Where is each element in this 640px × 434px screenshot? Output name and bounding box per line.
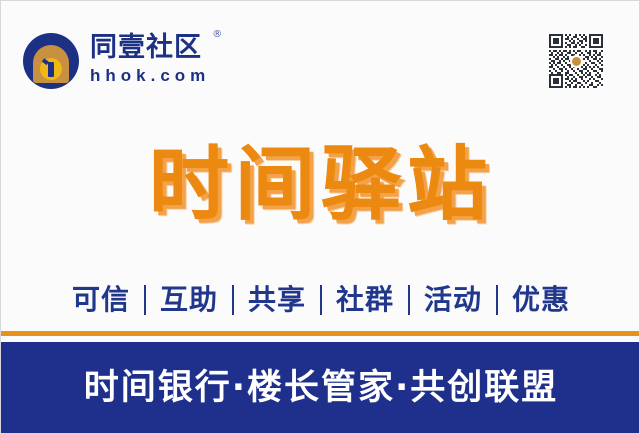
registered-mark-icon: ® bbox=[212, 30, 223, 41]
page-title: 时间驿站 bbox=[149, 145, 493, 225]
poster-canvas: 同壹社区 ® hhok.com bbox=[0, 0, 640, 434]
qr-code-icon[interactable] bbox=[549, 34, 603, 88]
orange-divider bbox=[1, 331, 640, 336]
keyword-separator-icon bbox=[144, 285, 146, 315]
keyword-item: 优惠 bbox=[512, 286, 570, 314]
keyword-separator-icon bbox=[320, 285, 322, 315]
keyword-separator-icon bbox=[496, 285, 498, 315]
brand-text-block: 同壹社区 ® hhok.com bbox=[90, 33, 210, 86]
keyword-separator-icon bbox=[232, 285, 234, 315]
logo-numeral-one bbox=[48, 62, 54, 77]
qr-center-logo-icon bbox=[570, 55, 583, 68]
keyword-separator-icon bbox=[408, 285, 410, 315]
brand-url: hhok.com bbox=[90, 66, 210, 86]
brand-name-label: 同壹社区 bbox=[90, 32, 202, 63]
keywords-row: 可信 互助 共享 社群 活动 优惠 bbox=[1, 277, 640, 323]
footer-banner: 时间银行·楼长管家·共创联盟 bbox=[1, 342, 640, 434]
brand-lockup: 同壹社区 ® hhok.com bbox=[23, 33, 210, 89]
title-area: 时间驿站 bbox=[1, 129, 640, 241]
keyword-item: 共享 bbox=[248, 286, 306, 314]
keyword-item: 互助 bbox=[160, 286, 218, 314]
poster-header: 同壹社区 ® hhok.com bbox=[1, 1, 640, 116]
keyword-item: 可信 bbox=[72, 286, 130, 314]
brand-name: 同壹社区 ® bbox=[90, 34, 210, 62]
hhok-circle-logo-icon bbox=[23, 33, 79, 89]
keyword-item: 活动 bbox=[424, 286, 482, 314]
footer-tagline: 时间银行·楼长管家·共创联盟 bbox=[84, 371, 559, 406]
keywords-list: 可信 互助 共享 社群 活动 优惠 bbox=[72, 285, 570, 315]
keyword-item: 社群 bbox=[336, 286, 394, 314]
